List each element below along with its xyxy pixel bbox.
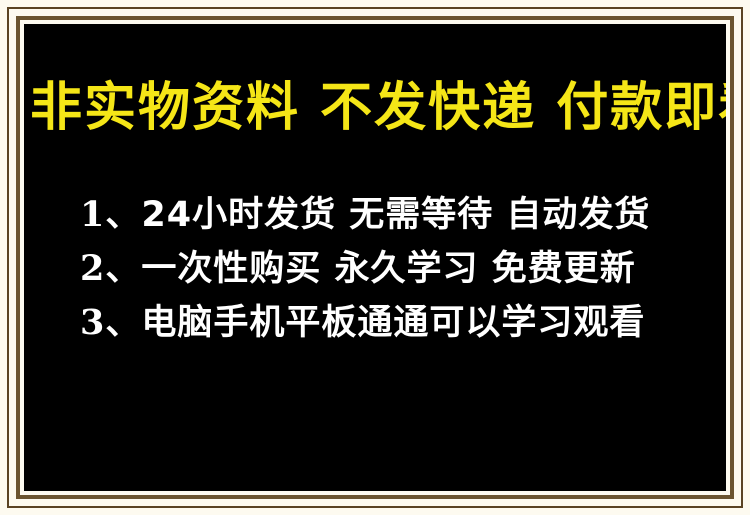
list-item-index: 3、 bbox=[80, 302, 141, 343]
list-item-label: 电脑手机平板通通可以学习观看 bbox=[141, 303, 645, 343]
list-item-index: 2、 bbox=[80, 248, 141, 289]
content-panel: 非实物资料 不发快递 付款即看 1、24小时发货 无需等待 自动发货 2、一次性… bbox=[24, 24, 726, 491]
list-item: 3、电脑手机平板通通可以学习观看 bbox=[80, 304, 702, 343]
bullet-list: 1、24小时发货 无需等待 自动发货 2、一次性购买 永久学习 免费更新 3、电… bbox=[24, 196, 726, 342]
list-item: 1、24小时发货 无需等待 自动发货 bbox=[80, 196, 702, 235]
list-item-label: 一次性购买 永久学习 免费更新 bbox=[141, 249, 635, 289]
headline-text: 非实物资料 不发快递 付款即看 bbox=[24, 82, 726, 134]
list-item-index: 1、 bbox=[80, 194, 141, 235]
list-item: 2、一次性购买 永久学习 免费更新 bbox=[80, 250, 702, 289]
list-item-label: 24小时发货 无需等待 自动发货 bbox=[141, 195, 650, 235]
promo-banner: 非实物资料 不发快递 付款即看 1、24小时发货 无需等待 自动发货 2、一次性… bbox=[0, 0, 750, 515]
